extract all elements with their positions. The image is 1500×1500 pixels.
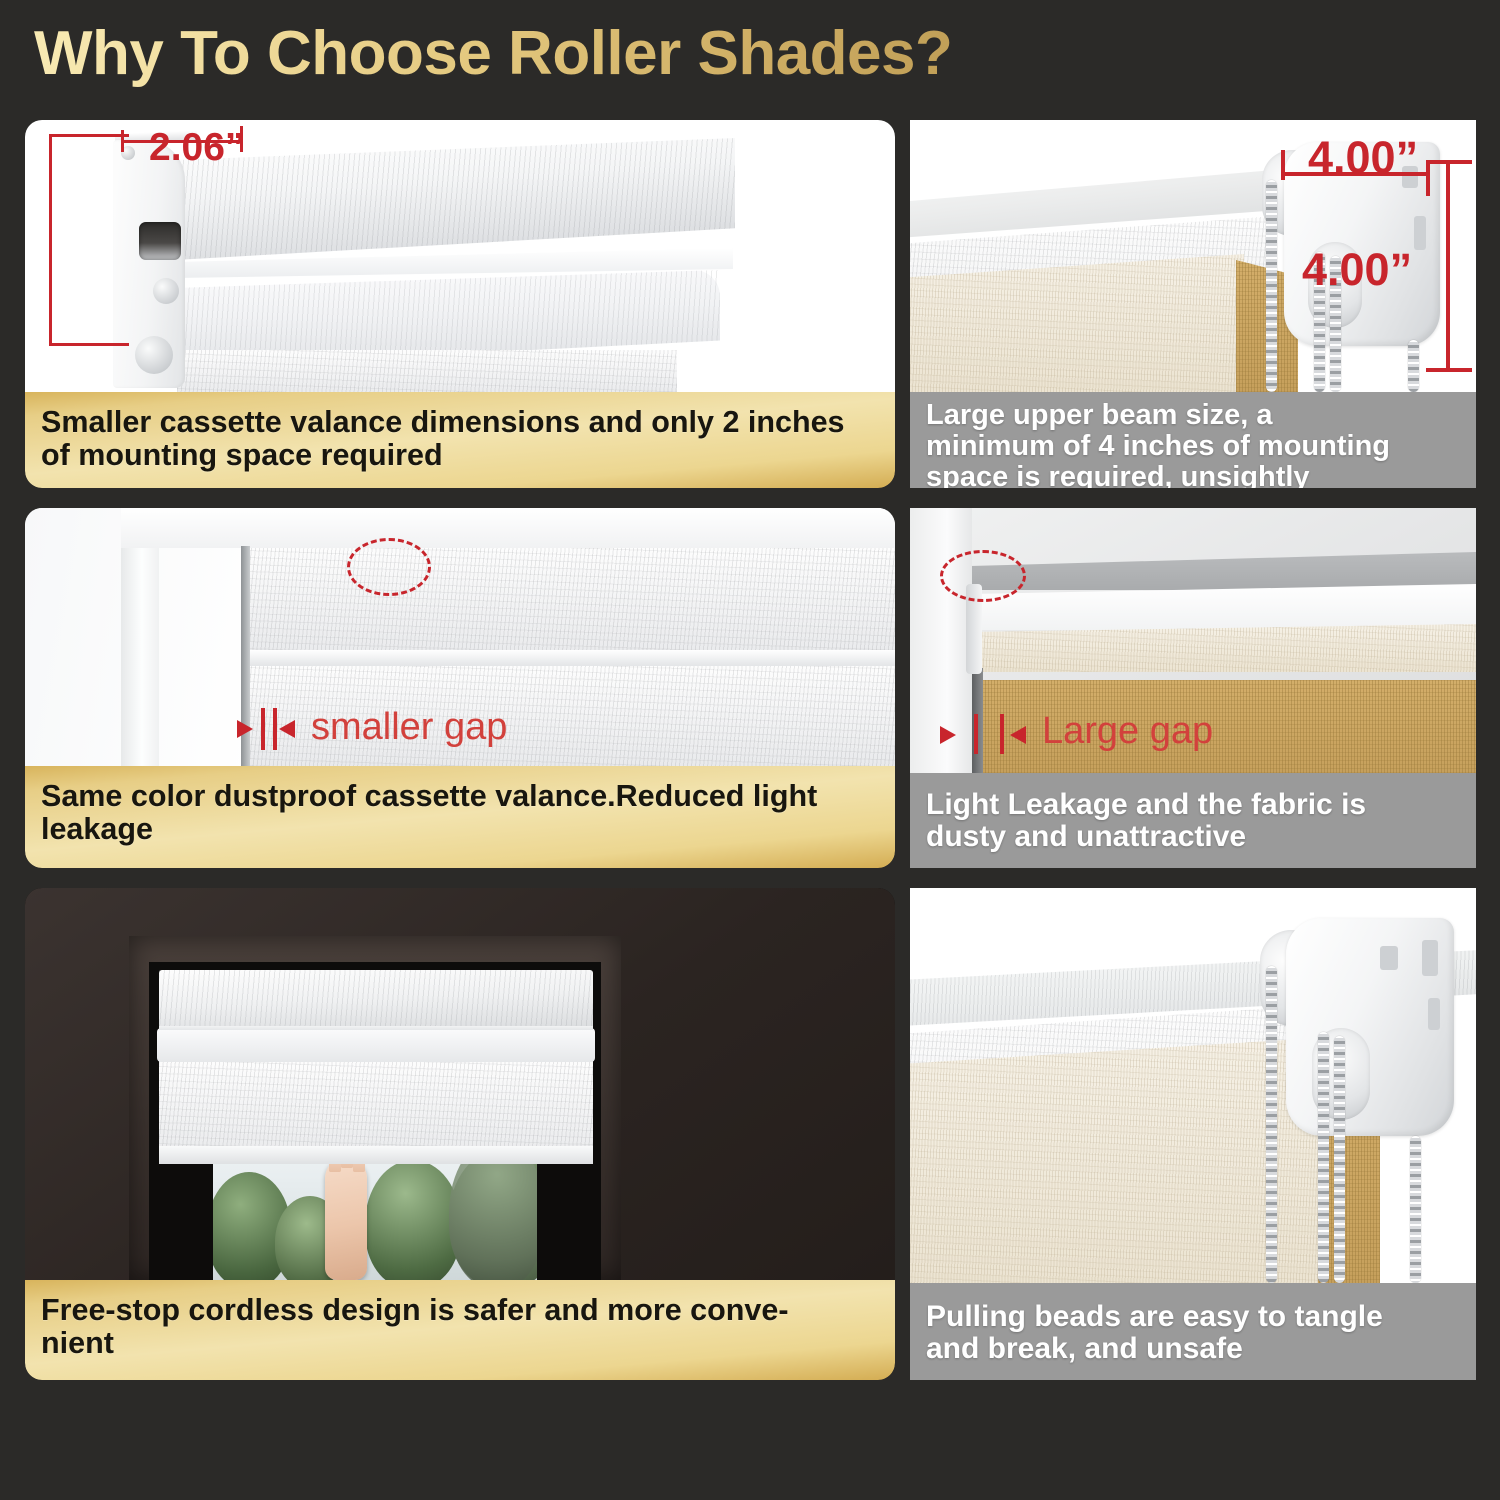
dim-cap-height-top [1426, 160, 1472, 164]
gap-tick-right [1000, 714, 1004, 754]
panel-cordless-design: Free-stop cordless design is safer and m… [25, 888, 895, 1380]
bracket-screw-mid [153, 278, 179, 304]
panel-3-caption-text: Same color dustproof cassette valance.Re… [41, 780, 879, 845]
highlight-ring-icon [347, 538, 431, 596]
panel-5-image [25, 888, 895, 1280]
dimension-label-beam-width: 4.00” [1308, 132, 1418, 184]
gap-arrow-right-icon [279, 720, 295, 738]
panel-5-caption: Free-stop cordless design is safer and m… [25, 1280, 895, 1380]
cassette-valance-shell [175, 138, 735, 260]
panel-2-caption-text: Large upper beam size, a minimum of 4 in… [926, 400, 1460, 488]
dim-cap-height-top [49, 134, 129, 137]
dim-tick-width-right [1426, 164, 1430, 196]
panel-5-caption-text: Free-stop cordless design is safer and m… [41, 1294, 879, 1359]
title-bar: Why To Choose Roller Shades? [0, 0, 1500, 112]
panel-large-beam: 4.00” 4.00” Large upper beam size, a min… [910, 120, 1476, 488]
panel-6-image [910, 888, 1476, 1283]
dim-cap-height-bottom [49, 343, 129, 346]
dim-line-height [49, 134, 52, 346]
bracket-slot-mid [1428, 998, 1440, 1030]
panel-6-caption-text: Pulling beads are easy to tangle and bre… [926, 1301, 1460, 1365]
page-title: Why To Choose Roller Shades? [34, 18, 952, 89]
valance-rail [247, 650, 895, 666]
cream-shade-fabric [910, 1038, 1318, 1283]
gap-tick-left [261, 708, 265, 750]
dimension-label-width: 2.06” [149, 126, 244, 170]
gap-tick-right [273, 708, 277, 750]
bracket-clutch-slot [139, 222, 181, 260]
shade-bottom-rail[interactable] [159, 1146, 593, 1164]
gap-label: smaller gap [311, 706, 507, 749]
panel-1-caption-text: Smaller cassette valance dimensions and … [41, 406, 879, 471]
panel-3-image: smaller gap [25, 508, 895, 766]
bracket-slot-mid [1414, 216, 1426, 250]
bead-chain-left[interactable] [1266, 180, 1277, 392]
bead-chain-right[interactable] [1408, 340, 1419, 392]
dim-tick-width-left [1281, 150, 1285, 180]
panel-smaller-cassette: 2.06” 5.49” Smaller cassette valance dim… [25, 120, 895, 488]
shade-fabric [159, 1060, 593, 1158]
panel-6-caption: Pulling beads are easy to tangle and bre… [910, 1283, 1476, 1380]
tree [365, 1160, 461, 1280]
bead-chain-left[interactable] [1266, 966, 1277, 1283]
mounting-bracket [113, 140, 185, 388]
bead-chain-right[interactable] [1410, 1136, 1421, 1283]
panel-2-caption: Large upper beam size, a minimum of 4 in… [910, 392, 1476, 488]
bead-chain-mid2[interactable] [1334, 1036, 1345, 1283]
bracket-screw-bottom [135, 336, 173, 374]
dim-line-height [1446, 160, 1450, 372]
bead-chain-mid[interactable] [1318, 1032, 1329, 1283]
panel-2-image: 4.00” 4.00” [910, 120, 1476, 392]
panel-light-leakage: Large gap Light Leakage and the fabric i… [910, 508, 1476, 868]
dim-cap-height-bottom [1426, 368, 1472, 372]
panel-1-caption: Smaller cassette valance dimensions and … [25, 392, 895, 488]
shade-fabric [177, 350, 677, 392]
gap-arrow-right-icon [1010, 726, 1026, 744]
dimension-label-beam-height: 4.00” [1302, 244, 1412, 296]
gap-tick-left [974, 714, 978, 754]
panel-pulling-beads: Pulling beads are easy to tangle and bre… [910, 888, 1476, 1380]
panel-3-caption: Same color dustproof cassette valance.Re… [25, 766, 895, 868]
cream-shade-fabric [910, 254, 1244, 392]
bracket-slot-upper [1422, 940, 1438, 976]
gap-label: Large gap [1042, 710, 1213, 753]
roller-tube [157, 1028, 595, 1062]
valance-cream-face [970, 624, 1476, 672]
panel-4-image: Large gap [910, 508, 1476, 773]
hand [325, 1158, 367, 1280]
highlight-ring-icon [940, 550, 1026, 602]
window-head [121, 508, 895, 548]
cassette-valance-face [247, 548, 895, 656]
panel-dustproof-cassette: smaller gap Same color dustproof cassett… [25, 508, 895, 868]
cassette-valance [159, 970, 593, 1026]
panel-4-caption-text: Light Leakage and the fabric is dusty an… [926, 789, 1460, 853]
panel-4-caption: Light Leakage and the fabric is dusty an… [910, 773, 1476, 868]
bracket-slot-top [1380, 946, 1398, 970]
panel-1-image: 2.06” 5.49” [25, 120, 895, 392]
gap-arrow-left-icon [940, 726, 956, 744]
gap-arrow-left-icon [237, 720, 253, 738]
